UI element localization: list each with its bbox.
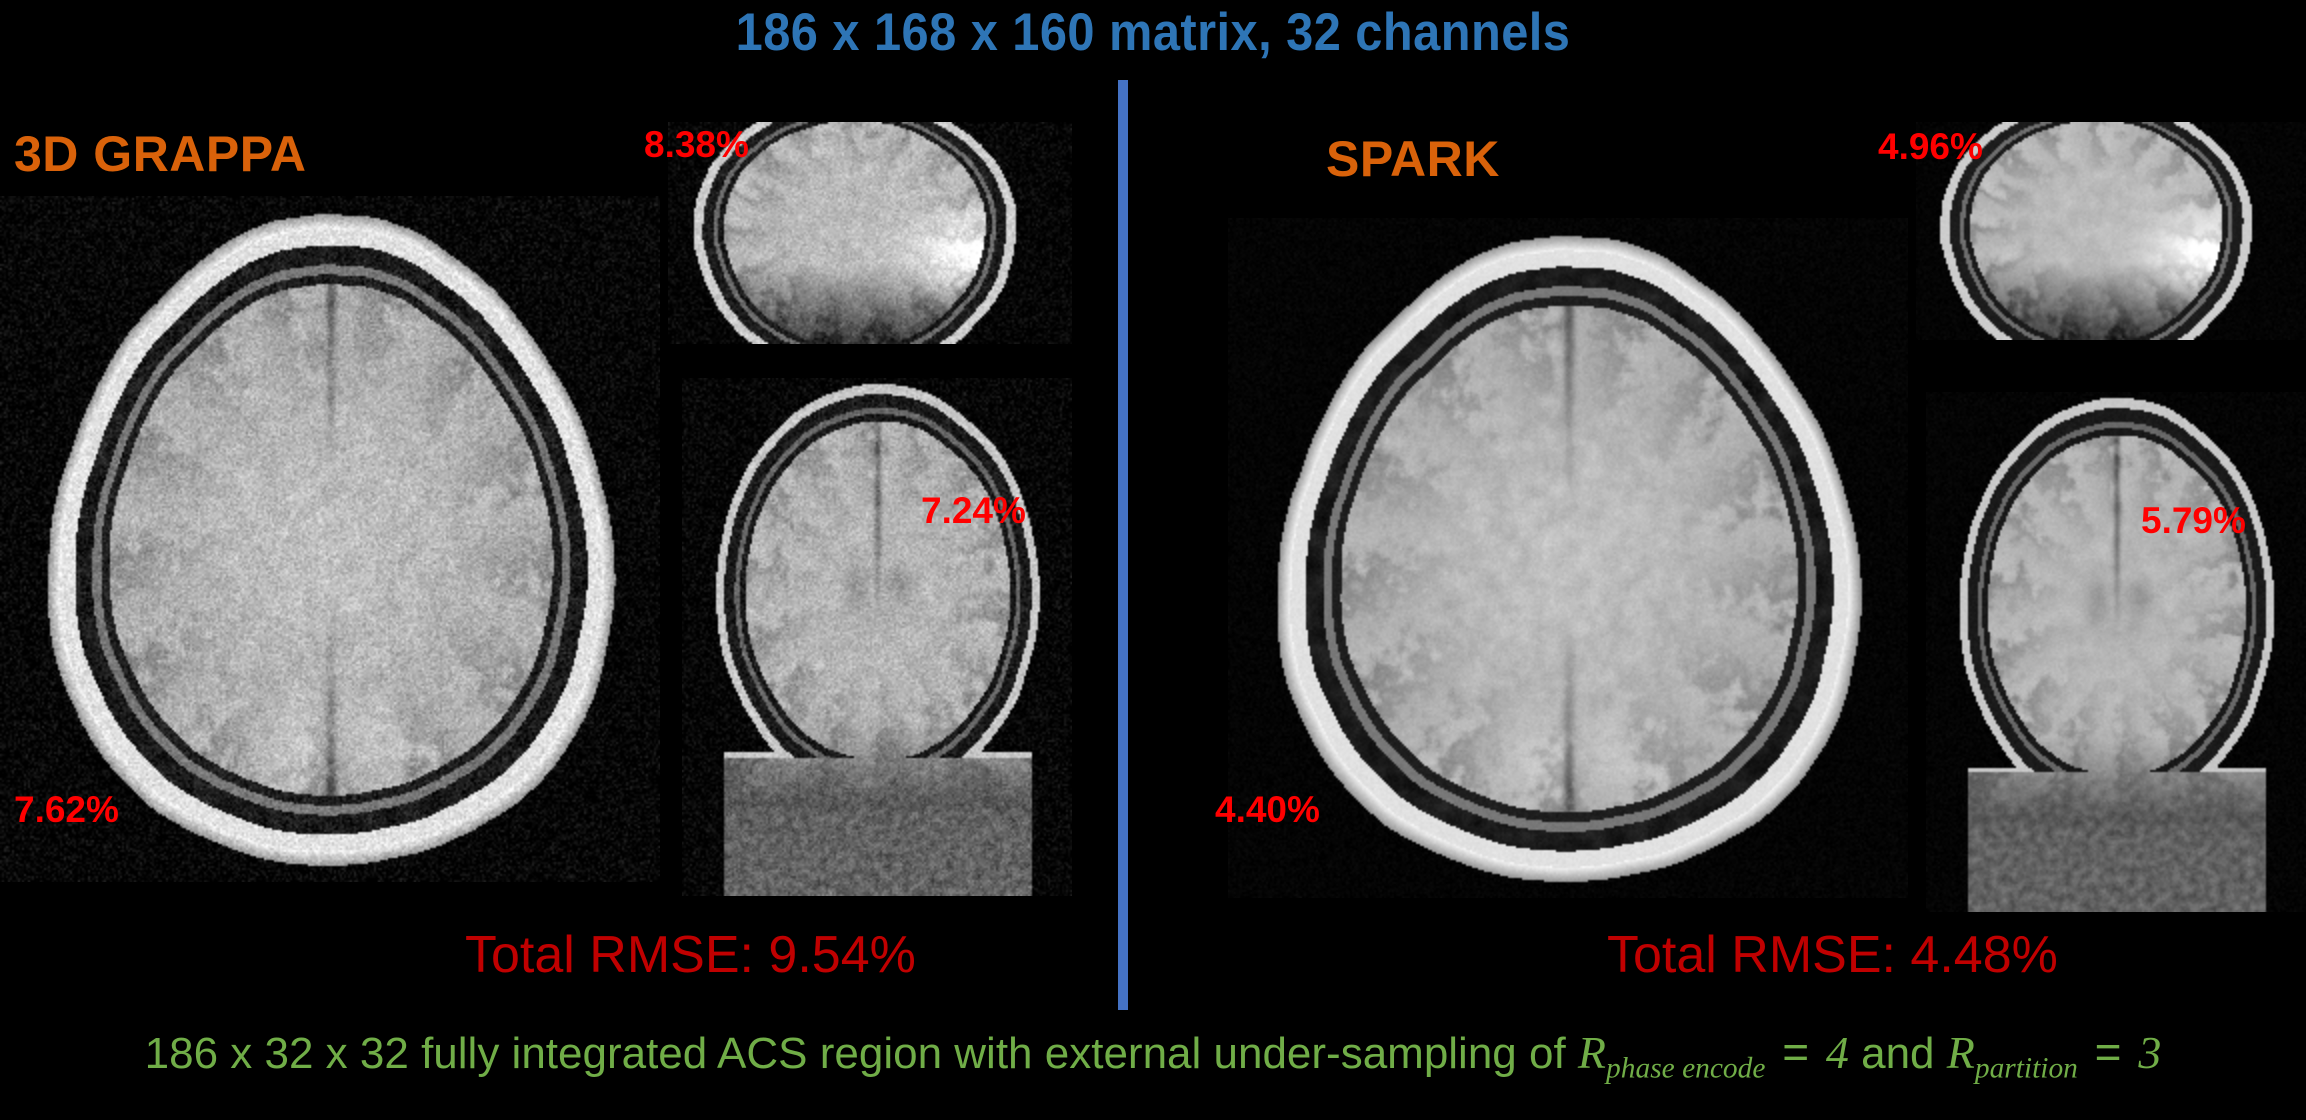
r2-symbol: R <box>1947 1027 1975 1078</box>
r1-equals: = <box>1765 1026 1825 1078</box>
grappa-total-rmse: Total RMSE: 9.54% <box>465 925 916 985</box>
spark-coronal-rmse: 5.79% <box>2141 500 2246 542</box>
figure-caption: 186 x 32 x 32 fully integrated ACS regio… <box>0 1025 2306 1085</box>
method-label-spark: SPARK <box>1326 130 1500 188</box>
grappa-axial-rmse: 7.62% <box>14 789 119 831</box>
grappa-sagittal-rmse: 8.38% <box>644 124 749 166</box>
spark-total-rmse: Total RMSE: 4.48% <box>1607 925 2058 985</box>
r2-equals: = <box>2078 1026 2138 1078</box>
r2-subscript: partition <box>1975 1052 2078 1084</box>
spark-sagittal-rmse: 4.96% <box>1878 126 1983 168</box>
grappa-coronal-rmse: 7.24% <box>921 490 1026 532</box>
r1-value: 4 <box>1826 1027 1849 1078</box>
figure-title: 186 x 168 x 160 matrix, 32 channels <box>92 2 2214 63</box>
caption-lead: 186 x 32 x 32 fully integrated ACS regio… <box>145 1029 1578 1078</box>
caption-r-phase-encode: Rphase encode = 4 <box>1578 1027 1849 1078</box>
r2-value: 3 <box>2138 1027 2161 1078</box>
r1-subscript: phase encode <box>1606 1052 1765 1084</box>
caption-conjunction: and <box>1849 1029 1947 1078</box>
spark-axial-image <box>1228 218 1908 898</box>
grappa-axial-image <box>0 196 660 882</box>
method-label-grappa: 3D GRAPPA <box>14 125 307 183</box>
mri-reconstruction-comparison-figure: 186 x 168 x 160 matrix, 32 channels 3D G… <box>0 0 2306 1120</box>
spark-coronal-image <box>1926 392 2306 912</box>
r1-symbol: R <box>1578 1027 1606 1078</box>
grappa-coronal-image <box>682 378 1072 896</box>
vertical-divider <box>1118 80 1128 1010</box>
caption-r-partition: Rpartition = 3 <box>1947 1027 2162 1078</box>
spark-axial-rmse: 4.40% <box>1215 789 1320 831</box>
